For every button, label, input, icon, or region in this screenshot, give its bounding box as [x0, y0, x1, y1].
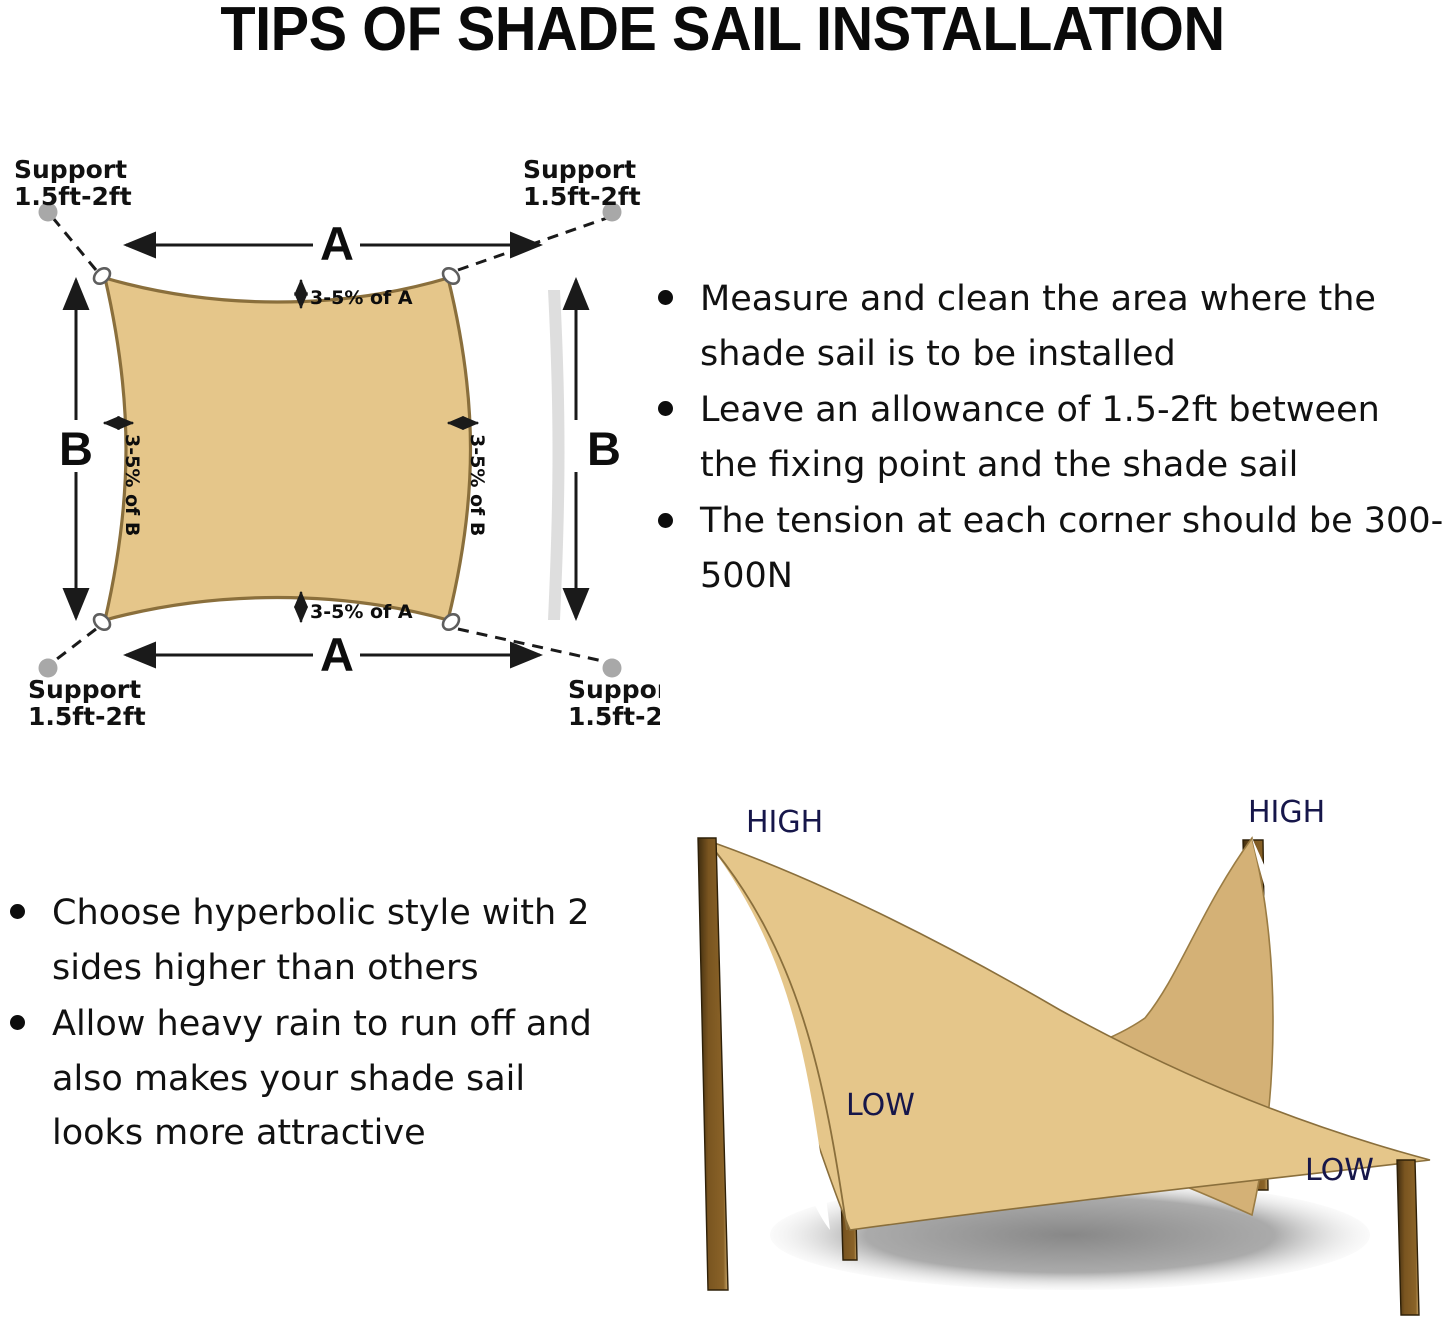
tips-list-right: Measure and clean the area where the sha…: [648, 272, 1445, 606]
bullet-dot-icon: [10, 904, 25, 919]
list-item: Allow heavy rain to run off and also mak…: [0, 997, 625, 1161]
curve-label-left: 3-5% of B: [121, 434, 143, 536]
bullet-dot-icon: [658, 290, 673, 305]
dim-label-a-bottom: A: [320, 628, 354, 681]
shade-sail-shape: [105, 278, 471, 620]
sail-edge-shadow: [548, 290, 565, 620]
support-line-bottom-left: [53, 629, 96, 662]
list-item: Leave an allowance of 1.5-2ft between th…: [648, 383, 1445, 492]
support-label-bottom-left-line2: 1.5ft-2ft: [28, 702, 146, 730]
curve-label-top: 3-5% of A: [310, 287, 413, 309]
bullet-dot-icon: [658, 513, 673, 528]
label-low-right: LOW: [1305, 1153, 1374, 1188]
pole-low-right: [1397, 1160, 1419, 1315]
label-low-left: LOW: [846, 1088, 915, 1123]
support-line-top-left: [53, 218, 96, 270]
tip-text: Leave an allowance of 1.5-2ft between th…: [700, 383, 1445, 492]
support-line-bottom-right: [458, 629, 607, 662]
support-label-bottom-right-line1: Support: [568, 675, 660, 704]
support-label-bottom-right-line2: 1.5ft-2ft: [568, 702, 660, 730]
tips-list-left: Choose hyperbolic style with 2 sides hig…: [0, 886, 625, 1163]
dim-label-a-top: A: [320, 217, 354, 270]
support-label-bottom-left-line1: Support: [28, 675, 141, 704]
dim-label-b-left: B: [59, 422, 93, 475]
tip-text: The tension at each corner should be 300…: [700, 494, 1445, 603]
label-high-left: HIGH: [746, 805, 823, 840]
pole-high-left: [698, 838, 728, 1290]
support-label-top-right-line2: 1.5ft-2ft: [523, 182, 641, 211]
list-item: Measure and clean the area where the sha…: [648, 272, 1445, 381]
list-item: Choose hyperbolic style with 2 sides hig…: [0, 886, 625, 995]
bullet-dot-icon: [658, 401, 673, 416]
tip-text: Allow heavy rain to run off and also mak…: [52, 997, 625, 1161]
label-high-right: HIGH: [1248, 795, 1325, 830]
sail-notch-right: [1252, 838, 1430, 1158]
infographic-page: TIPS OF SHADE SAIL INSTALLATION: [0, 0, 1445, 1319]
curve-label-right: 3-5% of B: [466, 434, 488, 536]
page-title: TIPS OF SHADE SAIL INSTALLATION: [51, 0, 1395, 65]
hyperbolic-sail-illustration: HIGH HIGH LOW LOW: [640, 760, 1445, 1319]
support-label-top-left-line1: Support: [14, 155, 127, 184]
tip-text: Measure and clean the area where the sha…: [700, 272, 1445, 381]
list-item: The tension at each corner should be 300…: [648, 494, 1445, 603]
bullet-dot-icon: [10, 1015, 25, 1030]
support-label-top-left-line2: 1.5ft-2ft: [14, 182, 132, 211]
rectangular-sail-diagram: A A B B 3-5% of A 3-5% of A 3-5% of B: [0, 150, 660, 730]
tip-text: Choose hyperbolic style with 2 sides hig…: [52, 886, 625, 995]
support-label-top-right-line1: Support: [523, 155, 636, 184]
dim-label-b-right: B: [587, 422, 621, 475]
curve-label-bottom: 3-5% of A: [310, 601, 413, 623]
